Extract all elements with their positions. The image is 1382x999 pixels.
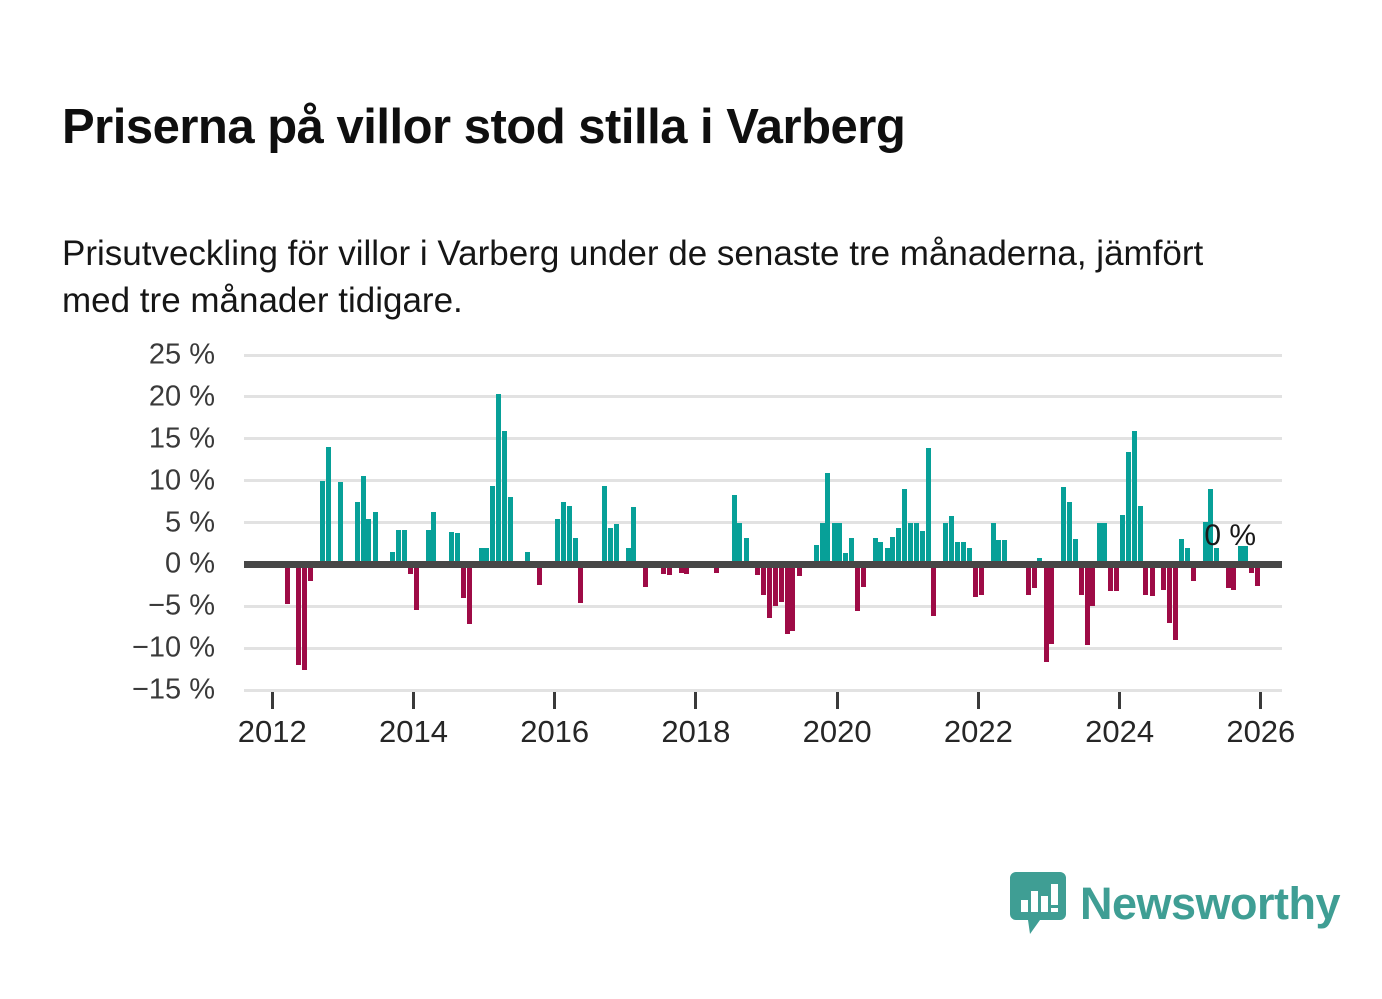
bar <box>1108 564 1113 591</box>
bar <box>1226 564 1231 587</box>
bar <box>767 564 772 618</box>
page-title: Priserna på villor stod stilla i Varberg <box>62 101 1262 155</box>
bar <box>1097 523 1102 564</box>
x-axis-tick <box>412 692 415 709</box>
page-subtitle: Prisutveckling för villor i Varberg unde… <box>62 231 1242 324</box>
bar <box>1143 564 1148 594</box>
bar <box>1120 515 1125 564</box>
bar <box>414 564 419 610</box>
bar <box>366 519 371 564</box>
bar <box>820 523 825 565</box>
x-axis-tick-label: 2012 <box>238 714 307 750</box>
bar-series <box>244 355 1282 690</box>
bar <box>943 523 948 565</box>
bar <box>1061 487 1066 564</box>
x-axis-tick-label: 2016 <box>520 714 589 750</box>
bar <box>561 502 566 565</box>
bar <box>614 524 619 564</box>
bar <box>296 564 301 665</box>
bar <box>1114 564 1119 591</box>
y-axis-tick-label: 15 % <box>105 422 215 455</box>
bar <box>761 564 766 595</box>
x-axis-tick-label: 2026 <box>1226 714 1295 750</box>
bar <box>508 497 513 564</box>
bar <box>732 495 737 565</box>
bar <box>779 564 784 602</box>
bar <box>837 523 842 564</box>
bar <box>931 564 936 616</box>
bar <box>326 447 331 564</box>
x-axis-tick <box>1118 692 1121 709</box>
bar <box>1167 564 1172 623</box>
bar <box>402 530 407 564</box>
y-axis-tick-label: 20 % <box>105 380 215 413</box>
bar <box>785 564 790 634</box>
y-axis-tick-label: 0 % <box>105 548 215 581</box>
bar <box>631 507 636 565</box>
bar <box>1138 506 1143 565</box>
bar <box>773 564 778 606</box>
bar <box>926 448 931 564</box>
logo-wordmark: Newsworthy <box>1080 881 1340 926</box>
x-axis-tick <box>977 692 980 709</box>
bar <box>567 506 572 565</box>
bar <box>608 528 613 565</box>
bar <box>973 564 978 597</box>
bar <box>1049 564 1054 644</box>
bar <box>285 564 290 603</box>
bar <box>502 431 507 564</box>
bar <box>1067 502 1072 565</box>
bar <box>431 512 436 564</box>
bar <box>1102 523 1107 565</box>
bar <box>496 394 501 564</box>
bar-chart: 25 %20 %15 %10 %5 %0 %−5 %−10 %−15 % 0 %… <box>0 355 1382 775</box>
bar <box>578 564 583 603</box>
x-axis-tick-label: 2020 <box>803 714 872 750</box>
y-axis-tick-label: −15 % <box>105 674 215 707</box>
bar <box>490 486 495 564</box>
bar <box>355 502 360 565</box>
x-axis-tick-label: 2022 <box>944 714 1013 750</box>
bar <box>949 516 954 565</box>
x-axis-tick <box>1259 692 1262 709</box>
bar <box>361 476 366 565</box>
bar <box>1161 564 1166 589</box>
bar <box>1090 564 1095 606</box>
bar <box>320 481 325 564</box>
zero-baseline <box>244 561 1282 568</box>
bar <box>914 523 919 565</box>
bar <box>991 523 996 564</box>
x-axis-tick <box>836 692 839 709</box>
y-axis-tick-label: −5 % <box>105 590 215 623</box>
bar <box>1032 564 1037 587</box>
y-axis-tick-label: 5 % <box>105 506 215 539</box>
bar <box>373 512 378 564</box>
bar <box>1132 431 1137 564</box>
bar <box>979 564 984 595</box>
bar <box>825 473 830 564</box>
bar <box>920 531 925 565</box>
y-axis-tick-label: 10 % <box>105 464 215 497</box>
bar <box>396 530 401 564</box>
bar <box>832 523 837 565</box>
x-axis-tick <box>271 692 274 709</box>
bar <box>467 564 472 623</box>
plot-area: 0 % <box>244 355 1282 690</box>
bar <box>737 523 742 565</box>
bar <box>1026 564 1031 595</box>
bar <box>1126 452 1131 564</box>
newsworthy-logo: Newsworthy <box>1010 872 1340 934</box>
zero-annotation-label: 0 % <box>1204 519 1256 553</box>
bar <box>455 533 460 564</box>
bar <box>1150 564 1155 596</box>
bar <box>1044 564 1049 661</box>
speech-bubble-barchart-icon <box>1010 872 1066 934</box>
bar <box>602 486 607 565</box>
bar <box>461 564 466 598</box>
y-axis-tick-label: 25 % <box>105 339 215 372</box>
bar <box>1231 564 1236 589</box>
y-axis-tick-label: −10 % <box>105 632 215 665</box>
bar <box>896 528 901 565</box>
bar <box>449 532 454 565</box>
bar <box>1085 564 1090 644</box>
x-axis-tick-label: 2024 <box>1085 714 1154 750</box>
bar <box>902 489 907 564</box>
x-axis-tick-label: 2014 <box>379 714 448 750</box>
bar <box>338 482 343 564</box>
x-axis-tick <box>553 692 556 709</box>
bar <box>426 530 431 564</box>
bar <box>1079 564 1084 595</box>
bar <box>855 564 860 611</box>
x-axis: 20122014201620182020202220242026 <box>244 690 1282 770</box>
x-axis-tick-label: 2018 <box>661 714 730 750</box>
bar <box>908 523 913 565</box>
bar <box>555 519 560 564</box>
x-axis-tick <box>694 692 697 709</box>
bar <box>302 564 307 670</box>
bar <box>1173 564 1178 639</box>
y-axis-labels: 25 %20 %15 %10 %5 %0 %−5 %−10 %−15 % <box>105 355 215 695</box>
bar <box>790 564 795 631</box>
